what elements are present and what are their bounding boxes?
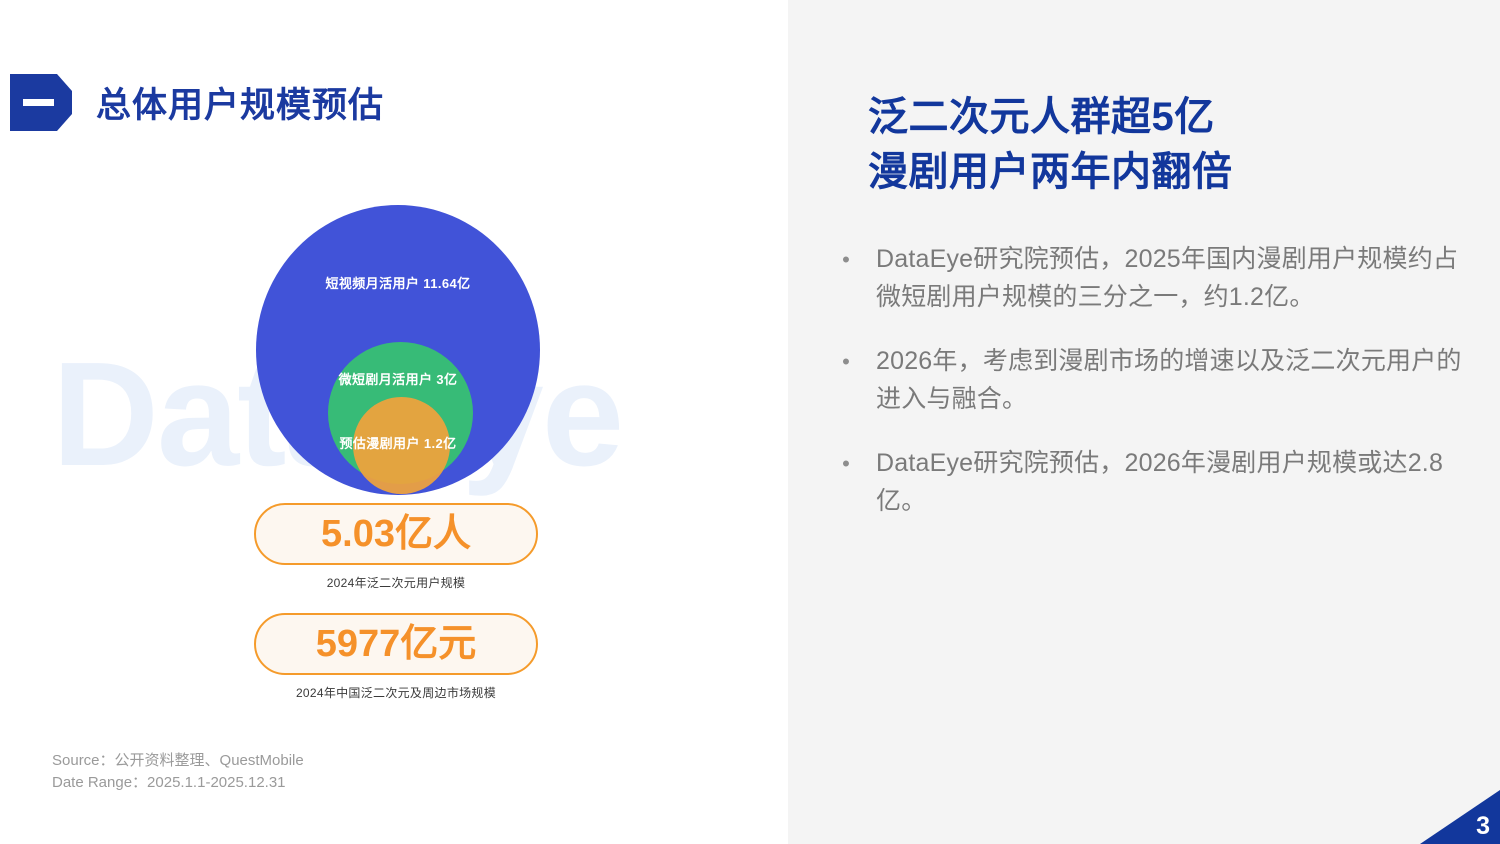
number-one-bar-icon (23, 99, 54, 106)
metric-caption: 2024年中国泛二次元及周边市场规模 (254, 684, 538, 701)
date-range-line: Date Range：2025.1.1-2025.12.31 (52, 772, 304, 794)
circle-label-short-video: 短视频月活用户 11.64亿 (256, 273, 540, 292)
list-item-text: 2026年，考虑到漫剧市场的增速以及泛二次元用户的进入与融合。 (876, 342, 1476, 418)
slide-title-row: 总体用户规模预估 (10, 74, 384, 131)
section-number-badge-icon (10, 74, 72, 131)
metric-pill: 5977亿元 (254, 613, 538, 675)
list-item-text: DataEye研究院预估，2026年漫剧用户规模或达2.8亿。 (876, 444, 1476, 520)
bullet-dot-icon: • (816, 240, 876, 280)
nested-circles-chart: 短视频月活用户 11.64亿 微短剧月活用户 3亿 预估漫剧用户 1.2亿 (256, 205, 540, 495)
left-content-panel: DataEye 总体用户规模预估 短视频月活用户 11.64亿 微短剧月活用户 … (0, 0, 788, 844)
bullet-dot-icon: • (816, 444, 876, 484)
list-item-text: DataEye研究院预估，2025年国内漫剧用户规模约占微短剧用户规模的三分之一… (876, 240, 1476, 316)
metric-value: 5.03亿人 (321, 515, 471, 553)
circle-label-micro-drama: 微短剧月活用户 3亿 (256, 369, 540, 388)
summary-heading: 泛二次元人群超5亿 漫剧用户两年内翻倍 (868, 90, 1468, 200)
summary-bullet-list: • DataEye研究院预估，2025年国内漫剧用户规模约占微短剧用户规模的三分… (816, 240, 1476, 546)
summary-heading-line-2: 漫剧用户两年内翻倍 (868, 145, 1468, 200)
metric-card-market-scale: 5977亿元 2024年中国泛二次元及周边市场规模 (254, 613, 538, 701)
metric-caption: 2024年泛二次元用户规模 (254, 574, 538, 591)
metric-value: 5977亿元 (316, 625, 477, 663)
slide: DataEye 总体用户规模预估 短视频月活用户 11.64亿 微短剧月活用户 … (0, 0, 1500, 844)
metric-pill: 5.03亿人 (254, 503, 538, 565)
source-line: Source：公开资料整理、QuestMobile (52, 750, 304, 772)
source-footnote: Source：公开资料整理、QuestMobile Date Range：202… (52, 750, 304, 794)
list-item: • DataEye研究院预估，2026年漫剧用户规模或达2.8亿。 (816, 444, 1476, 520)
circle-label-manju-forecast: 预估漫剧用户 1.2亿 (256, 433, 540, 452)
summary-heading-line-1: 泛二次元人群超5亿 (868, 90, 1468, 145)
metric-card-user-scale: 5.03亿人 2024年泛二次元用户规模 (254, 503, 538, 591)
right-summary-panel: 泛二次元人群超5亿 漫剧用户两年内翻倍 • DataEye研究院预估，2025年… (788, 0, 1500, 844)
page-title: 总体用户规模预估 (96, 77, 384, 128)
list-item: • 2026年，考虑到漫剧市场的增速以及泛二次元用户的进入与融合。 (816, 342, 1476, 418)
bullet-dot-icon: • (816, 342, 876, 382)
list-item: • DataEye研究院预估，2025年国内漫剧用户规模约占微短剧用户规模的三分… (816, 240, 1476, 316)
page-number: 3 (1476, 814, 1490, 839)
